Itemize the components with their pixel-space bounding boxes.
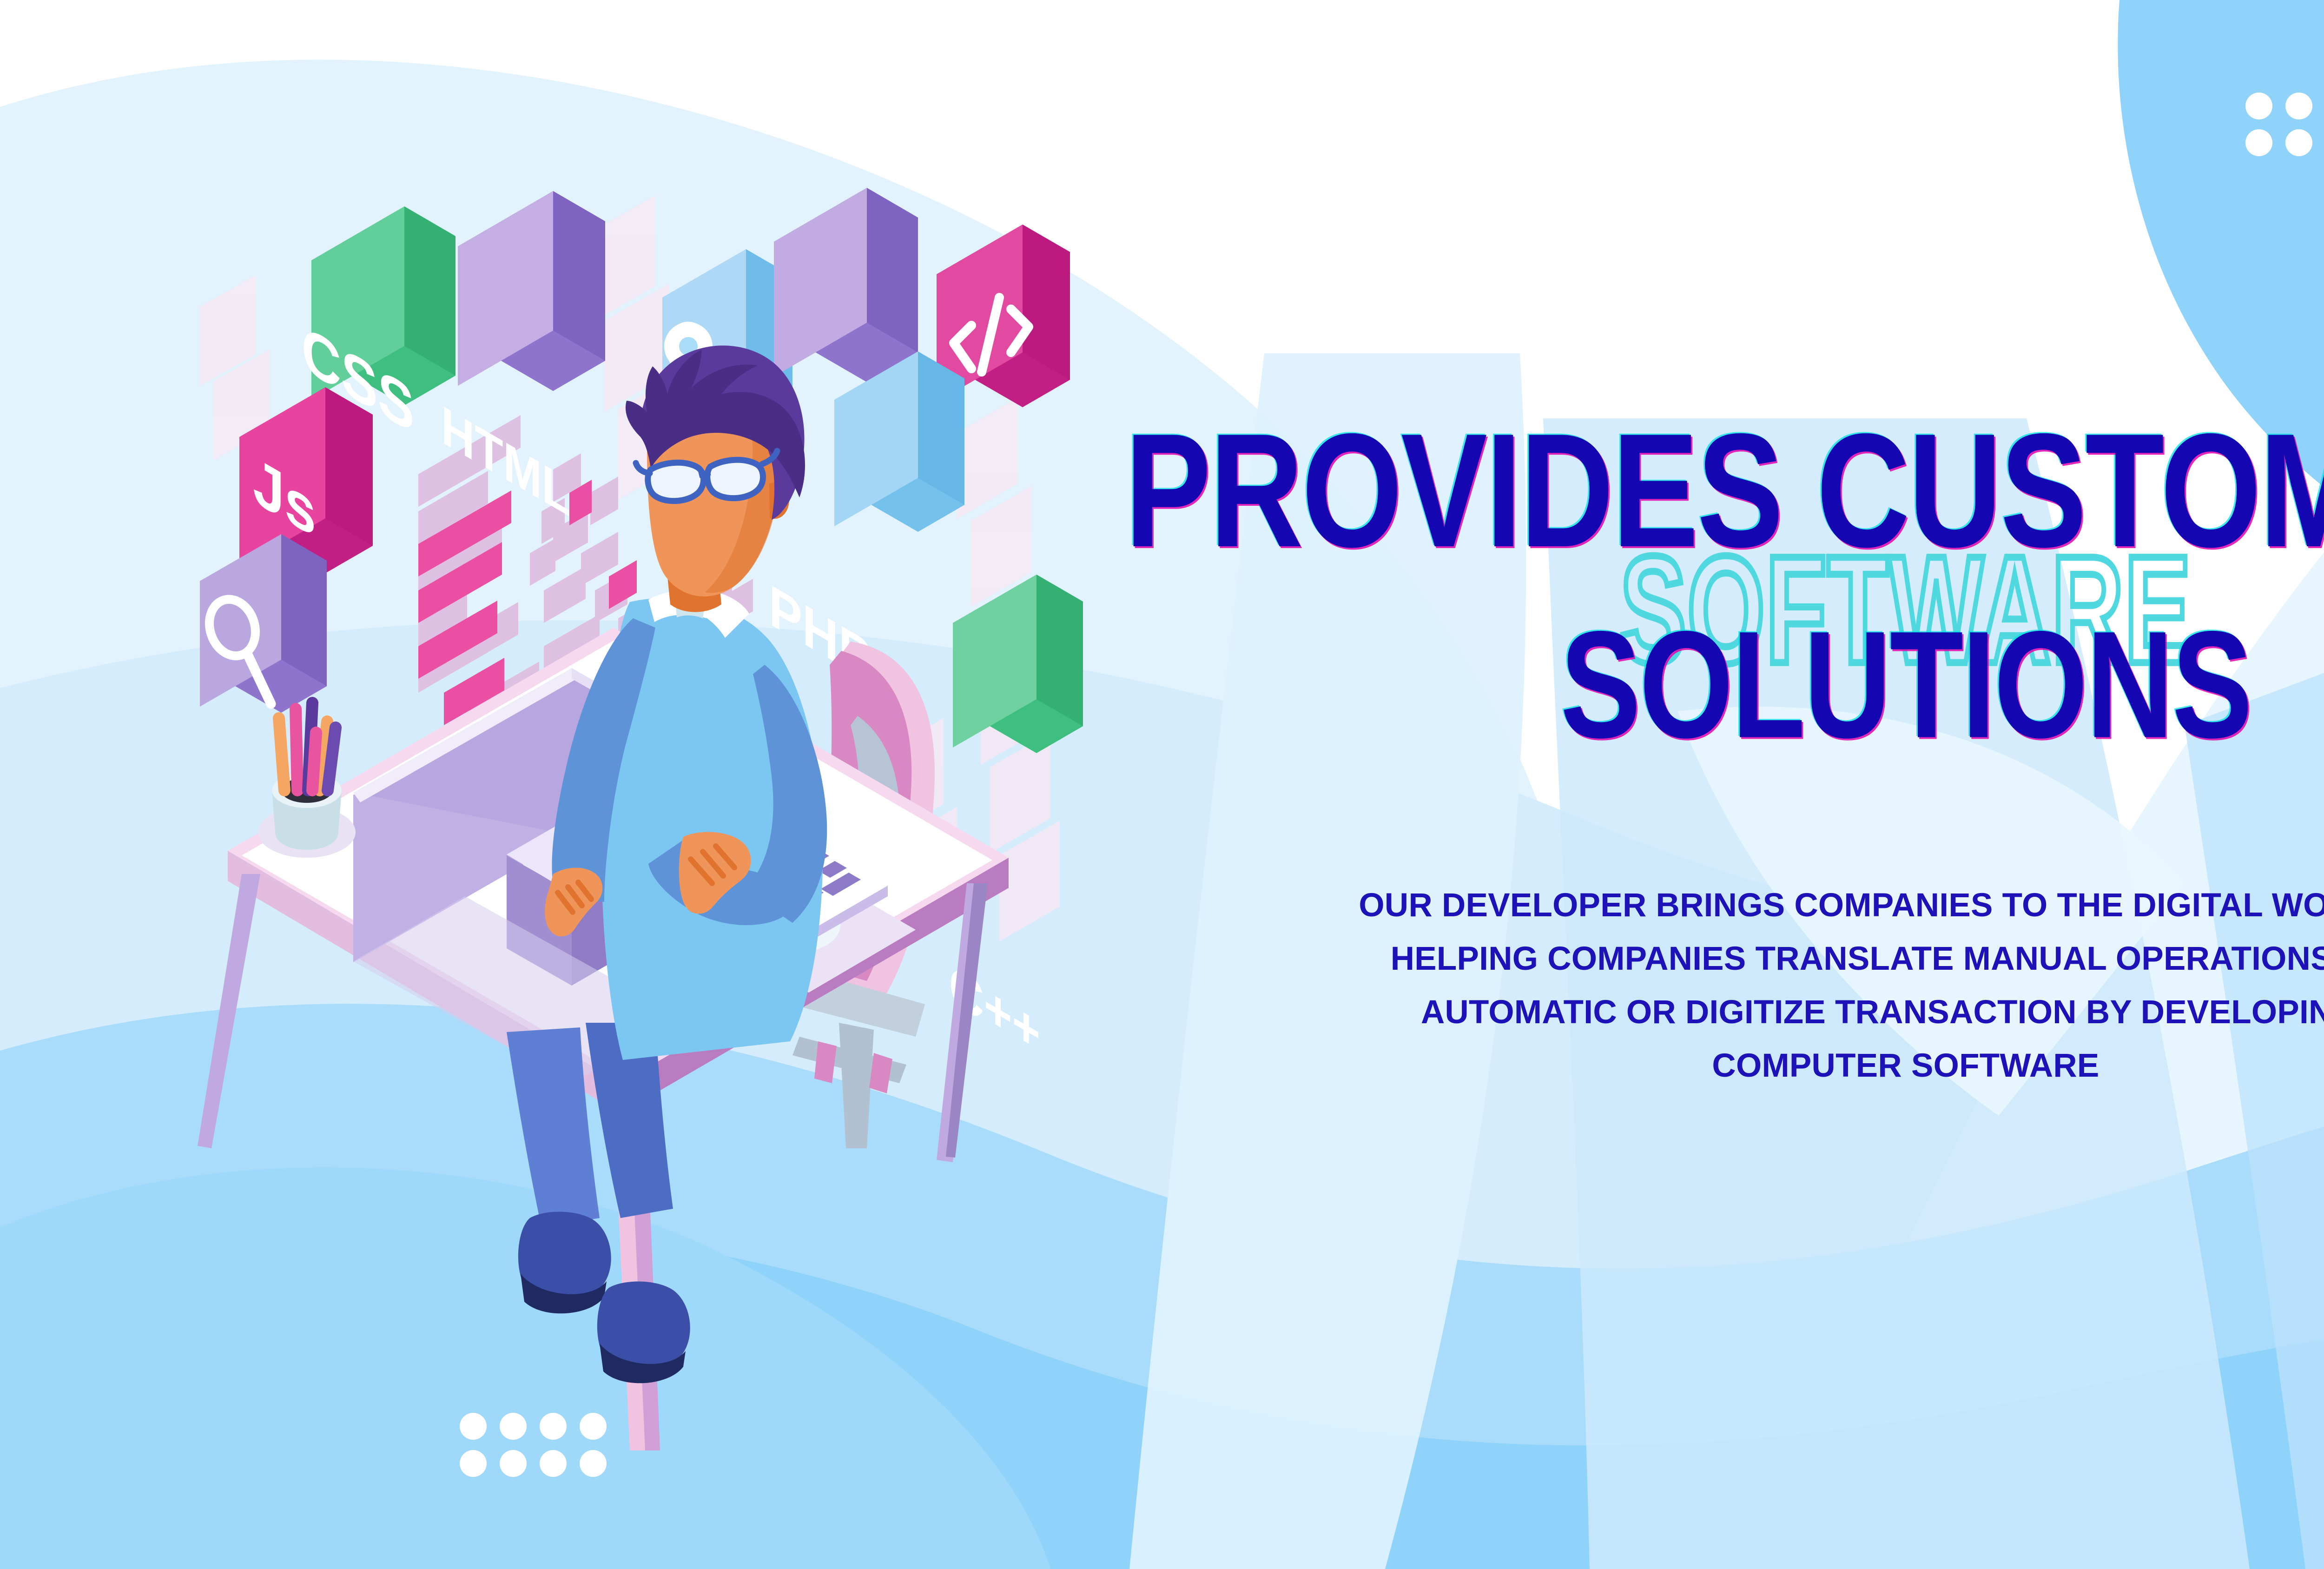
text-column: PROVIDES CUSTOM SOFTWARE SOLUTIONS OUR D… (1125, 409, 2324, 753)
body-paragraph: OUR DEVELOPER BRINGS COMPANIES TO THE DI… (1125, 879, 2324, 1092)
body-line-2: HELPING COMPANIES TRANSLATE MANUAL OPERA… (1125, 932, 2324, 986)
headline-line-provides-custom: PROVIDES CUSTOM (1125, 409, 2324, 571)
body-line-3: AUTOMATIC OR DIGITIZE TRANSACTION BY DEV… (1125, 986, 2324, 1039)
headline-line-solutions: SOLUTIONS (1102, 609, 2324, 761)
headline: PROVIDES CUSTOM SOFTWARE SOLUTIONS (1125, 409, 2324, 753)
body-line-1: OUR DEVELOPER BRINGS COMPANIES TO THE DI… (1125, 879, 2324, 932)
banner-canvas: CSS HTML (0, 0, 2324, 1569)
dot-grid-top-right (2245, 93, 2324, 156)
pen-cup (258, 703, 356, 858)
dot-grid-bottom-left (460, 1413, 607, 1477)
search-card (200, 534, 327, 713)
developer-illustration: CSS HTML (0, 0, 2324, 1569)
body-line-4: COMPUTER SOFTWARE (1125, 1039, 2324, 1092)
